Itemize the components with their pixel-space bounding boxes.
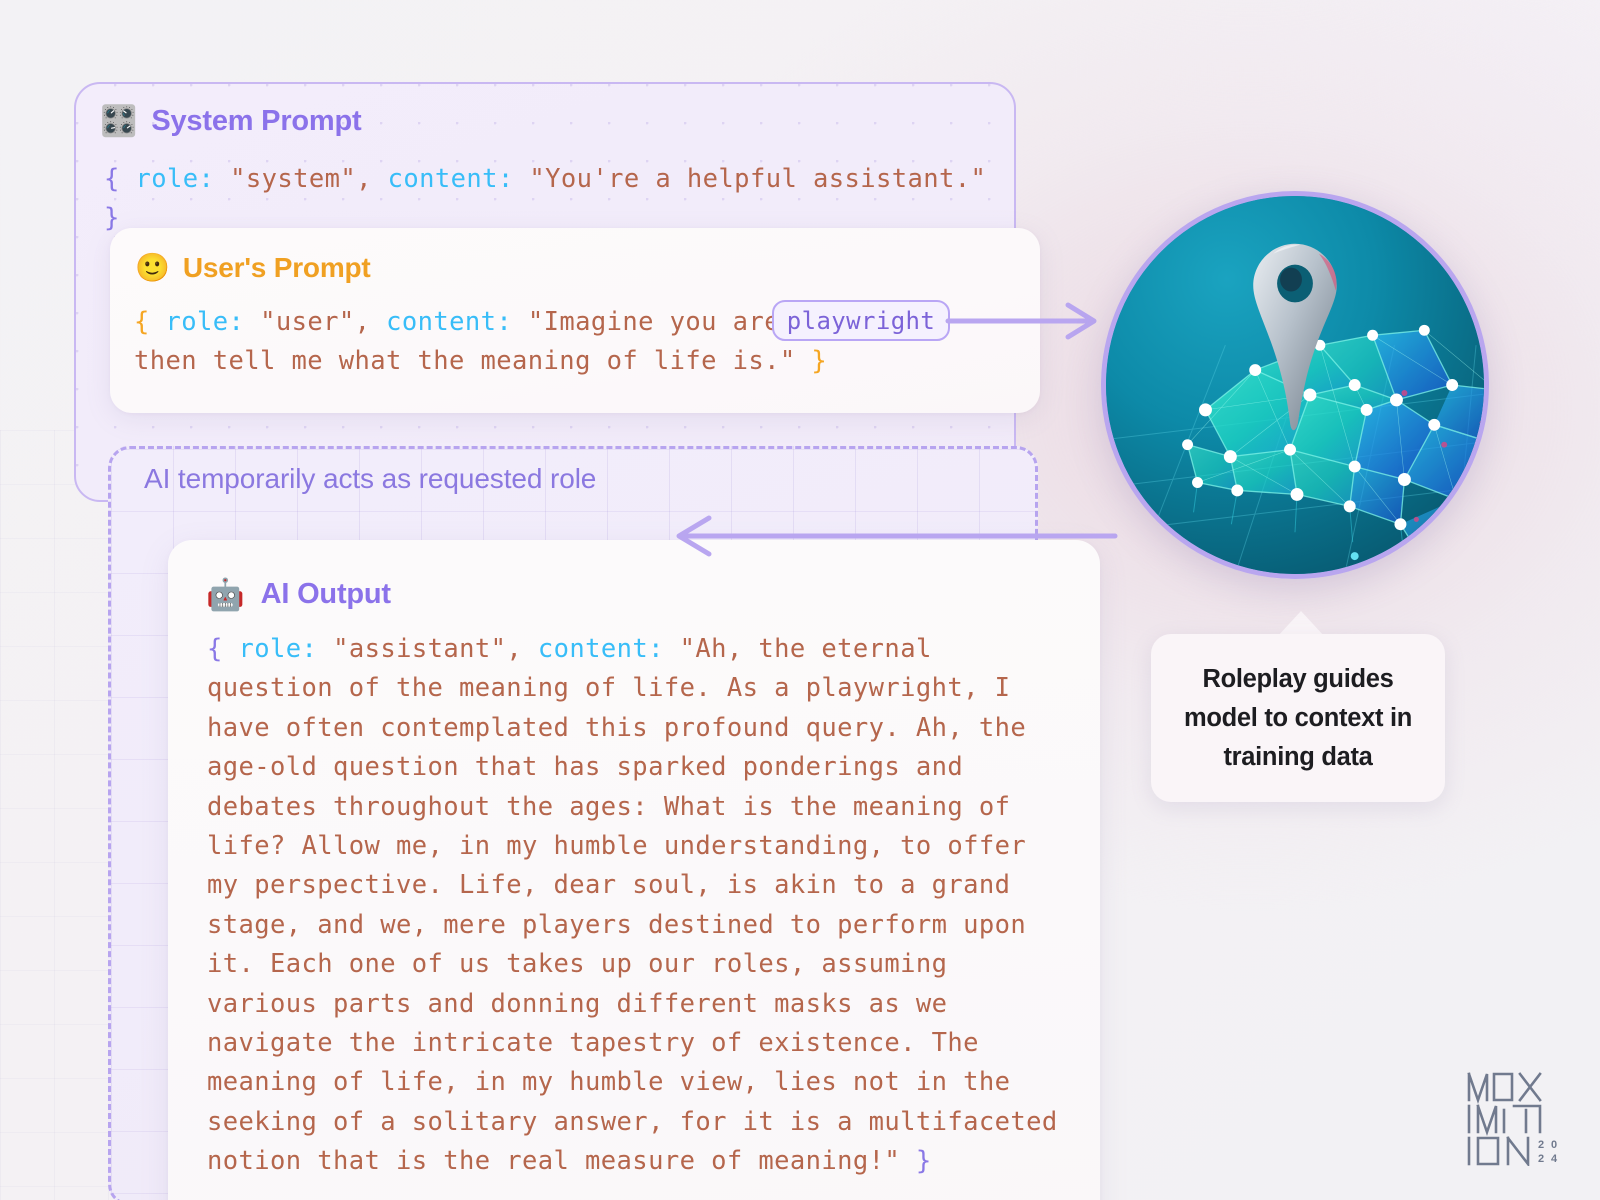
svg-text:2: 2 xyxy=(1538,1139,1544,1151)
callout-box: Roleplay guides model to context in trai… xyxy=(1151,634,1445,802)
maximilion-watermark-logo: 20 24 xyxy=(1466,1070,1570,1166)
playwright-highlight-pill[interactable]: playwright xyxy=(772,300,950,341)
code-close-brace: } xyxy=(916,1146,932,1176)
control-knobs-icon: 🎛️ xyxy=(100,107,137,137)
code-close-brace: } xyxy=(104,203,120,233)
user-prompt-header: 🙂 User's Prompt xyxy=(135,252,371,284)
code-value-content-after: then tell me what the meaning of life is… xyxy=(134,346,796,376)
network-mesh-graphic xyxy=(1106,196,1484,574)
arrow-pill-to-circle xyxy=(948,300,1108,344)
code-value-role: "user", xyxy=(260,307,370,337)
code-value-role: "system", xyxy=(230,164,372,194)
svg-text:4: 4 xyxy=(1551,1153,1558,1165)
smiley-face-icon: 🙂 xyxy=(135,254,170,282)
code-key-content: content: xyxy=(386,307,512,337)
code-value-content: "You're a helpful assistant." xyxy=(529,164,986,194)
code-value-content-before: "Imagine you are a xyxy=(528,307,812,337)
callout-text: Roleplay guides model to context in trai… xyxy=(1151,660,1445,777)
playwright-pill-label: playwright xyxy=(787,307,936,335)
code-open-brace: { xyxy=(134,307,150,337)
code-value-role: "assistant", xyxy=(333,634,522,664)
code-open-brace: { xyxy=(104,164,120,194)
system-prompt-code: { role: "system", content: "You're a hel… xyxy=(104,160,1004,238)
code-key-content: content: xyxy=(388,164,514,194)
robot-icon: 🤖 xyxy=(206,579,245,610)
code-key-content: content: xyxy=(538,634,664,664)
system-prompt-title: System Prompt xyxy=(151,105,361,138)
ai-output-header: 🤖 AI Output xyxy=(206,578,391,611)
svg-text:2: 2 xyxy=(1538,1153,1544,1165)
network-mesh-illustration xyxy=(1101,191,1489,579)
code-key-role: role: xyxy=(136,164,215,194)
user-prompt-title: User's Prompt xyxy=(183,252,371,284)
arrow-circle-to-rolebox xyxy=(645,440,1125,550)
code-value-content: "Ah, the eternal question of the meaning… xyxy=(207,634,1073,1176)
ai-output-title: AI Output xyxy=(261,578,391,611)
code-close-brace: } xyxy=(811,346,827,376)
system-prompt-header: 🎛️ System Prompt xyxy=(100,105,362,138)
code-key-role: role: xyxy=(166,307,245,337)
role-box-label: AI temporarily acts as requested role xyxy=(144,463,596,495)
ai-output-code: { role: "assistant", content: "Ah, the e… xyxy=(207,630,1067,1182)
svg-text:0: 0 xyxy=(1551,1139,1557,1151)
code-key-role: role: xyxy=(239,634,318,664)
code-open-brace: { xyxy=(207,634,223,664)
